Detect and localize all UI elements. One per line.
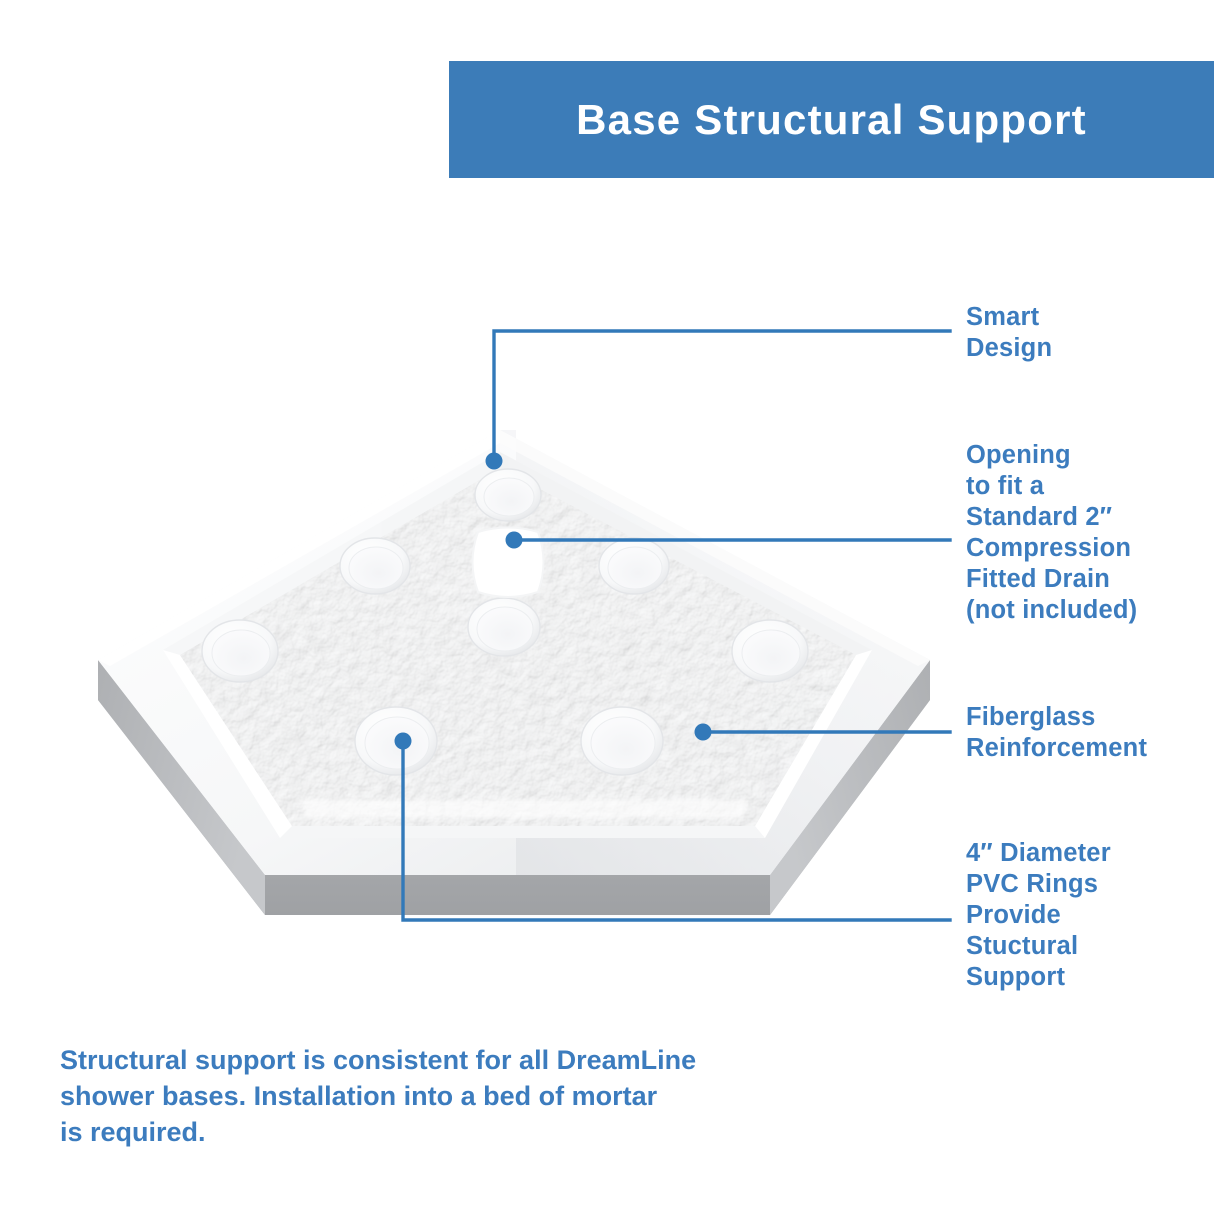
page-title: Base Structural Support: [576, 96, 1087, 144]
callout-label-pvc-rings: 4″ Diameter PVC Rings Provide Stuctural …: [966, 838, 1111, 993]
base-cove-shading: [163, 452, 872, 838]
drain-opening: [473, 528, 544, 598]
pvc-ring-group: [202, 469, 808, 775]
callout-label-opening-drain: Opening to fit a Standard 2″ Compression…: [966, 440, 1137, 626]
base-side-wall: [98, 660, 930, 915]
pvc-ring: [355, 707, 437, 775]
base-floor-texture: [180, 468, 856, 826]
base-floor-pan: [180, 468, 856, 826]
base-outer-deck: [98, 430, 930, 875]
callout-line: 4″ Diameter: [966, 838, 1111, 869]
pvc-ring: [340, 538, 410, 594]
callout-line: PVC Rings: [966, 869, 1111, 900]
pvc-ring: [475, 469, 541, 521]
callout-line: Design: [966, 333, 1052, 364]
leader-line-smart-design: [494, 331, 950, 461]
infographic-canvas: Base Structural Support Smart Design Ope…: [0, 0, 1214, 1214]
header-banner: Base Structural Support: [449, 61, 1214, 178]
footnote-line: is required.: [60, 1114, 820, 1150]
pvc-ring: [599, 538, 669, 594]
pvc-ring: [202, 620, 278, 682]
callout-line: Opening: [966, 440, 1137, 471]
footnote-line: shower bases. Installation into a bed of…: [60, 1078, 820, 1114]
leader-dot-opening: [506, 532, 523, 549]
leader-line-pvc-rings: [403, 741, 950, 920]
pvc-ring: [732, 620, 808, 682]
leader-dot-smart-design: [486, 453, 503, 470]
callout-line: Support: [966, 962, 1111, 993]
callout-line: Smart: [966, 302, 1052, 333]
base-deck-highlight: [500, 430, 930, 875]
callout-line: Fitted Drain: [966, 564, 1137, 595]
footnote-line: Structural support is consistent for all…: [60, 1042, 820, 1078]
base-threshold-inner: [163, 452, 872, 838]
base-side-wall-left: [98, 660, 265, 915]
footnote-text: Structural support is consistent for all…: [60, 1042, 820, 1150]
callout-line: to fit a: [966, 471, 1137, 502]
callout-label-fiberglass-reinforcement: Fiberglass Reinforcement: [966, 702, 1147, 764]
callout-line: Stuctural: [966, 931, 1111, 962]
pvc-ring: [468, 598, 540, 656]
leader-dot-pvc-rings: [395, 733, 412, 750]
base-side-wall-right: [770, 660, 930, 915]
callout-line: (not included): [966, 595, 1137, 626]
floor-reflection: [300, 800, 748, 818]
callout-line: Provide: [966, 900, 1111, 931]
callout-line: Compression: [966, 533, 1137, 564]
callout-line: Reinforcement: [966, 733, 1147, 764]
callout-label-smart-design: Smart Design: [966, 302, 1052, 364]
deck-edge-highlight-left: [98, 430, 500, 666]
deck-edge-highlight-right: [500, 430, 930, 666]
pvc-ring: [581, 707, 663, 775]
callout-line: Fiberglass: [966, 702, 1147, 733]
leader-dot-fiberglass: [695, 724, 712, 741]
callout-line: Standard 2″: [966, 502, 1137, 533]
